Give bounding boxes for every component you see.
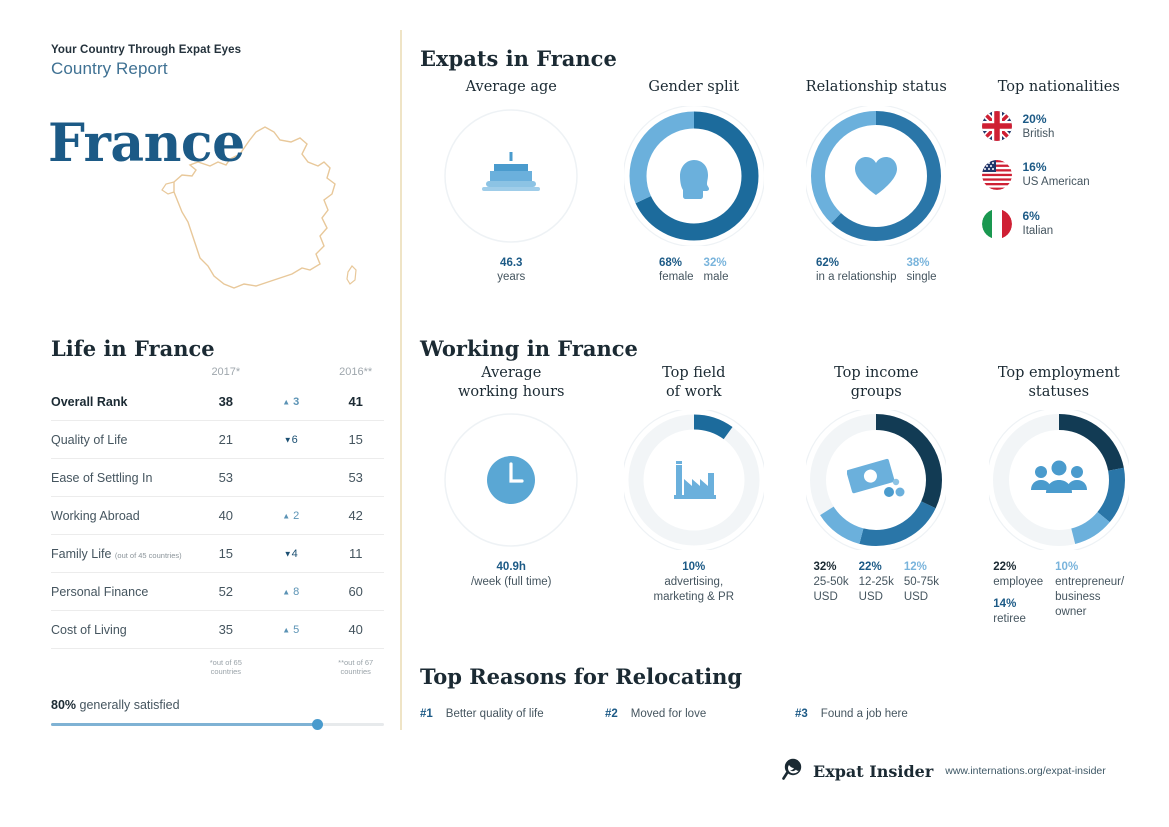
factory-icon (624, 410, 764, 550)
nationality-label: British (1023, 127, 1055, 143)
reason-item-2: #2 Moved for love (605, 708, 795, 720)
row-previous: 15 (327, 421, 384, 459)
stat-top-field-of-work: Top field of work 10% (603, 364, 786, 627)
report-subtitle: Country Report (51, 59, 387, 79)
flag-italy-icon (982, 209, 1012, 239)
satisfaction-caption: generally satisfied (80, 698, 180, 712)
row-previous: 60 (327, 573, 384, 611)
money-icon (806, 410, 946, 550)
report-kicker: Your Country Through Expat Eyes (51, 44, 387, 56)
infographic-page: Your Country Through Expat Eyes Country … (0, 0, 1169, 827)
list-item: 20% British (982, 111, 1151, 143)
row-delta: ▼6 (254, 421, 327, 459)
top-employment-donut (989, 410, 1129, 550)
rankings-table-head: 2017* 2016** (51, 366, 384, 383)
satisfaction-percent: 80% (51, 698, 76, 712)
rankings-table-body: Overall Rank38▲ 341Quality of Life21▼615… (51, 383, 384, 688)
row-current: 40 (198, 497, 255, 535)
table-row: Family Life (out of 45 countries)15▼411 (51, 535, 384, 573)
legend-caption: 12-25k USD (859, 575, 894, 605)
clock-icon (441, 410, 581, 550)
nationality-label: Italian (1023, 224, 1054, 240)
stat-average-working-hours: Average working hours 40.9h /week (full (420, 364, 603, 627)
stat-title-line1: Top field (662, 365, 725, 381)
row-current: 15 (198, 535, 255, 573)
legend-item: 68% female (659, 256, 694, 286)
legend-caption: female (659, 270, 694, 285)
life-section-heading: Life in France (51, 336, 215, 361)
stat-average-age: Average age 46.3 (420, 78, 603, 285)
row-label: Cost of Living (51, 611, 198, 649)
row-previous: 40 (327, 611, 384, 649)
footer: Expat Insider www.internations.org/expat… (782, 757, 1106, 785)
table-header-row: 2017* 2016** (51, 366, 384, 383)
list-item: 6% Italian (982, 208, 1151, 240)
stat-title: Average age (420, 78, 603, 97)
country-name: France (48, 118, 245, 170)
people-group-icon (989, 410, 1129, 550)
stat-top-income-groups: Top income groups (785, 364, 968, 627)
legend-item: 22% 12-25k USD (859, 560, 894, 605)
row-label: Personal Finance (51, 573, 198, 611)
reasons-list: #1 Better quality of life #2 Moved for l… (420, 708, 1120, 720)
row-delta: ▲ 5 (254, 611, 327, 649)
legend-caption-line2: marketing & PR (653, 591, 734, 603)
legend-caption: /week (full time) (471, 575, 552, 590)
legend-item: 32% 25-50k USD (813, 560, 848, 605)
top-employment-legend: 22% employee 14% retiree 10% entrepreneu… (968, 560, 1151, 627)
reason-item-3: #3 Found a job here (795, 708, 995, 720)
stat-title-line1: Top income (834, 365, 918, 381)
table-row: Working Abroad40▲ 242 (51, 497, 384, 535)
stat-title: Top nationalities (968, 78, 1151, 97)
nationality-percent: 16% (1023, 159, 1090, 175)
legend-item: 38% single (907, 256, 937, 286)
row-delta (254, 459, 327, 497)
expats-stats-row: Average age 46.3 (420, 78, 1150, 285)
column-divider (400, 30, 402, 730)
satisfaction-slider-fill (51, 723, 317, 726)
row-label: Working Abroad (51, 497, 198, 535)
legend-caption: 25-50k USD (813, 575, 848, 605)
legend-value: 32% (704, 256, 729, 271)
flag-uk-icon (982, 111, 1012, 141)
row-delta: ▲ 2 (254, 497, 327, 535)
legend-item: 40.9h /week (full time) (471, 560, 552, 590)
col-index (51, 366, 198, 383)
flag-us-icon (982, 160, 1012, 190)
stat-title: Average working hours (420, 364, 603, 401)
row-label: Family Life (out of 45 countries) (51, 535, 198, 573)
col-2016: 2016** (327, 366, 384, 383)
stat-top-employment-statuses: Top employment statuses (968, 364, 1151, 627)
expat-insider-magnifier-icon (782, 757, 806, 785)
satisfaction-block: 80% generally satisfied (51, 698, 384, 726)
legend-caption-line1: advertising, (664, 576, 723, 588)
reason-item-1: #1 Better quality of life (420, 708, 605, 720)
footer-url[interactable]: www.internations.org/expat-insider (945, 765, 1106, 777)
legend-value: 40.9h (471, 560, 552, 575)
nationality-text: 6% Italian (1023, 208, 1054, 240)
legend-value: 14% (993, 597, 1043, 612)
delta-up: ▲ 8 (282, 586, 299, 598)
row-label: Quality of Life (51, 421, 198, 459)
legend-column-right: 10% entrepreneur/ business owner (1055, 560, 1124, 620)
average-age-legend: 46.3 years (420, 256, 603, 286)
legend-item: 10% entrepreneur/ business owner (1055, 560, 1124, 620)
rankings-table: 2017* 2016** Overall Rank38▲ 341Quality … (51, 366, 384, 688)
legend-value: 10% (653, 560, 734, 575)
stat-title-line1: Average (481, 365, 541, 381)
legend-caption: in a relationship (816, 270, 897, 285)
heart-icon (806, 106, 946, 246)
list-item: 16% US American (982, 159, 1151, 191)
legend-value: 38% (907, 256, 937, 271)
stat-title-line2: working hours (458, 384, 565, 400)
legend-value: 22% (859, 560, 894, 575)
relationship-status-donut (806, 106, 946, 246)
stat-gender-split: Gender split 68% female 32% male (603, 78, 786, 285)
expats-section-heading: Expats in France (420, 46, 617, 71)
delta-up: ▲ 2 (282, 510, 299, 522)
legend-caption: retiree (993, 612, 1043, 627)
footnote-current: *out of 65countries (198, 649, 255, 688)
row-delta: ▲ 8 (254, 573, 327, 611)
gender-split-legend: 68% female 32% male (603, 256, 786, 286)
reason-rank: #2 (605, 708, 618, 720)
top-income-legend: 32% 25-50k USD 22% 12-25k USD 12% (785, 560, 968, 605)
legend-value: 62% (816, 256, 897, 271)
reason-text: Better quality of life (446, 708, 544, 720)
brand-lockup[interactable]: Expat Insider (782, 757, 933, 785)
nationality-percent: 20% (1023, 111, 1055, 127)
gender-split-donut (624, 106, 764, 246)
table-row: Ease of Settling In5353 (51, 459, 384, 497)
table-footnote-row: *out of 65countries**out of 67countries (51, 649, 384, 688)
row-label: Overall Rank (51, 383, 198, 421)
working-section-heading: Working in France (420, 336, 638, 361)
working-hours-legend: 40.9h /week (full time) (420, 560, 603, 590)
brand-name: Expat Insider (813, 762, 933, 781)
satisfaction-label: 80% generally satisfied (51, 698, 384, 712)
table-row: Quality of Life21▼615 (51, 421, 384, 459)
legend-caption: 50-75k USD (904, 575, 939, 605)
row-previous: 53 (327, 459, 384, 497)
top-field-legend: 10% advertising, marketing & PR (603, 560, 786, 605)
reason-rank: #1 (420, 708, 433, 720)
legend-column-left: 22% employee 14% retiree (993, 560, 1043, 627)
reasons-section-heading: Top Reasons for Relocating (420, 664, 742, 689)
stat-title-line1: Top employment (998, 365, 1120, 381)
table-row: Overall Rank38▲ 341 (51, 383, 384, 421)
satisfaction-slider[interactable] (51, 723, 384, 726)
stat-title: Gender split (603, 78, 786, 97)
stat-title: Top field of work (603, 364, 786, 401)
stat-top-nationalities: Top nationalities (968, 78, 1151, 285)
legend-item: 22% employee (993, 560, 1043, 590)
delta-up: ▲ 5 (282, 624, 299, 636)
row-current: 21 (198, 421, 255, 459)
report-header: Your Country Through Expat Eyes Country … (51, 44, 387, 79)
stat-title: Relationship status (785, 78, 968, 97)
legend-caption: entrepreneur/ business owner (1055, 575, 1124, 620)
stat-title-line2: groups (851, 384, 902, 400)
legend-item: 10% advertising, marketing & PR (653, 560, 734, 605)
footnote-previous: **out of 67countries (327, 649, 384, 688)
stat-title-line2: statuses (1028, 384, 1089, 400)
person-head-icon (624, 106, 764, 246)
legend-item: 12% 50-75k USD (904, 560, 939, 605)
stat-title: Top income groups (785, 364, 968, 401)
row-current: 53 (198, 459, 255, 497)
table-row: Cost of Living35▲ 540 (51, 611, 384, 649)
stat-title: Top employment statuses (968, 364, 1151, 401)
relationship-status-legend: 62% in a relationship 38% single (785, 256, 968, 286)
legend-item: 62% in a relationship (816, 256, 897, 286)
col-2017: 2017* (198, 366, 255, 383)
delta-down: ▼6 (284, 434, 298, 446)
row-current: 52 (198, 573, 255, 611)
working-hours-circle (441, 410, 581, 550)
nationalities-list: 20% British (968, 111, 1151, 240)
row-label: Ease of Settling In (51, 459, 198, 497)
top-field-donut (624, 410, 764, 550)
col-delta (254, 366, 327, 383)
legend-item: 14% retiree (993, 597, 1043, 627)
nationality-text: 16% US American (1023, 159, 1090, 191)
legend-value: 22% (993, 560, 1043, 575)
row-current: 35 (198, 611, 255, 649)
legend-value: 10% (1055, 560, 1124, 575)
delta-up: ▲ 3 (282, 396, 299, 408)
legend-item: 32% male (704, 256, 729, 286)
legend-value: 32% (813, 560, 848, 575)
row-delta: ▲ 3 (254, 383, 327, 421)
row-current: 38 (198, 383, 255, 421)
legend-value: 46.3 (497, 256, 525, 271)
row-delta: ▼4 (254, 535, 327, 573)
nationality-percent: 6% (1023, 208, 1054, 224)
reason-text: Found a job here (821, 708, 908, 720)
legend-item: 46.3 years (497, 256, 525, 286)
working-stats-row: Average working hours 40.9h /week (full (420, 364, 1150, 627)
row-previous: 41 (327, 383, 384, 421)
table-row: Personal Finance52▲ 860 (51, 573, 384, 611)
stat-relationship-status: Relationship status 62% in a relationshi… (785, 78, 968, 285)
nationality-text: 20% British (1023, 111, 1055, 143)
legend-caption: single (907, 270, 937, 285)
average-age-circle (441, 106, 581, 246)
stat-title-line2: of work (666, 384, 722, 400)
legend-caption: years (497, 270, 525, 285)
delta-down: ▼4 (284, 548, 298, 560)
reason-text: Moved for love (631, 708, 706, 720)
satisfaction-slider-handle[interactable] (312, 719, 323, 730)
legend-caption: male (704, 270, 729, 285)
nationality-label: US American (1023, 175, 1090, 191)
legend-caption: employee (993, 575, 1043, 590)
legend-caption: advertising, marketing & PR (653, 575, 734, 605)
reason-rank: #3 (795, 708, 808, 720)
birthday-cake-icon (441, 106, 581, 246)
legend-value: 12% (904, 560, 939, 575)
row-previous: 11 (327, 535, 384, 573)
legend-value: 68% (659, 256, 694, 271)
row-note: (out of 45 countries) (115, 551, 182, 560)
row-previous: 42 (327, 497, 384, 535)
top-income-donut (806, 410, 946, 550)
